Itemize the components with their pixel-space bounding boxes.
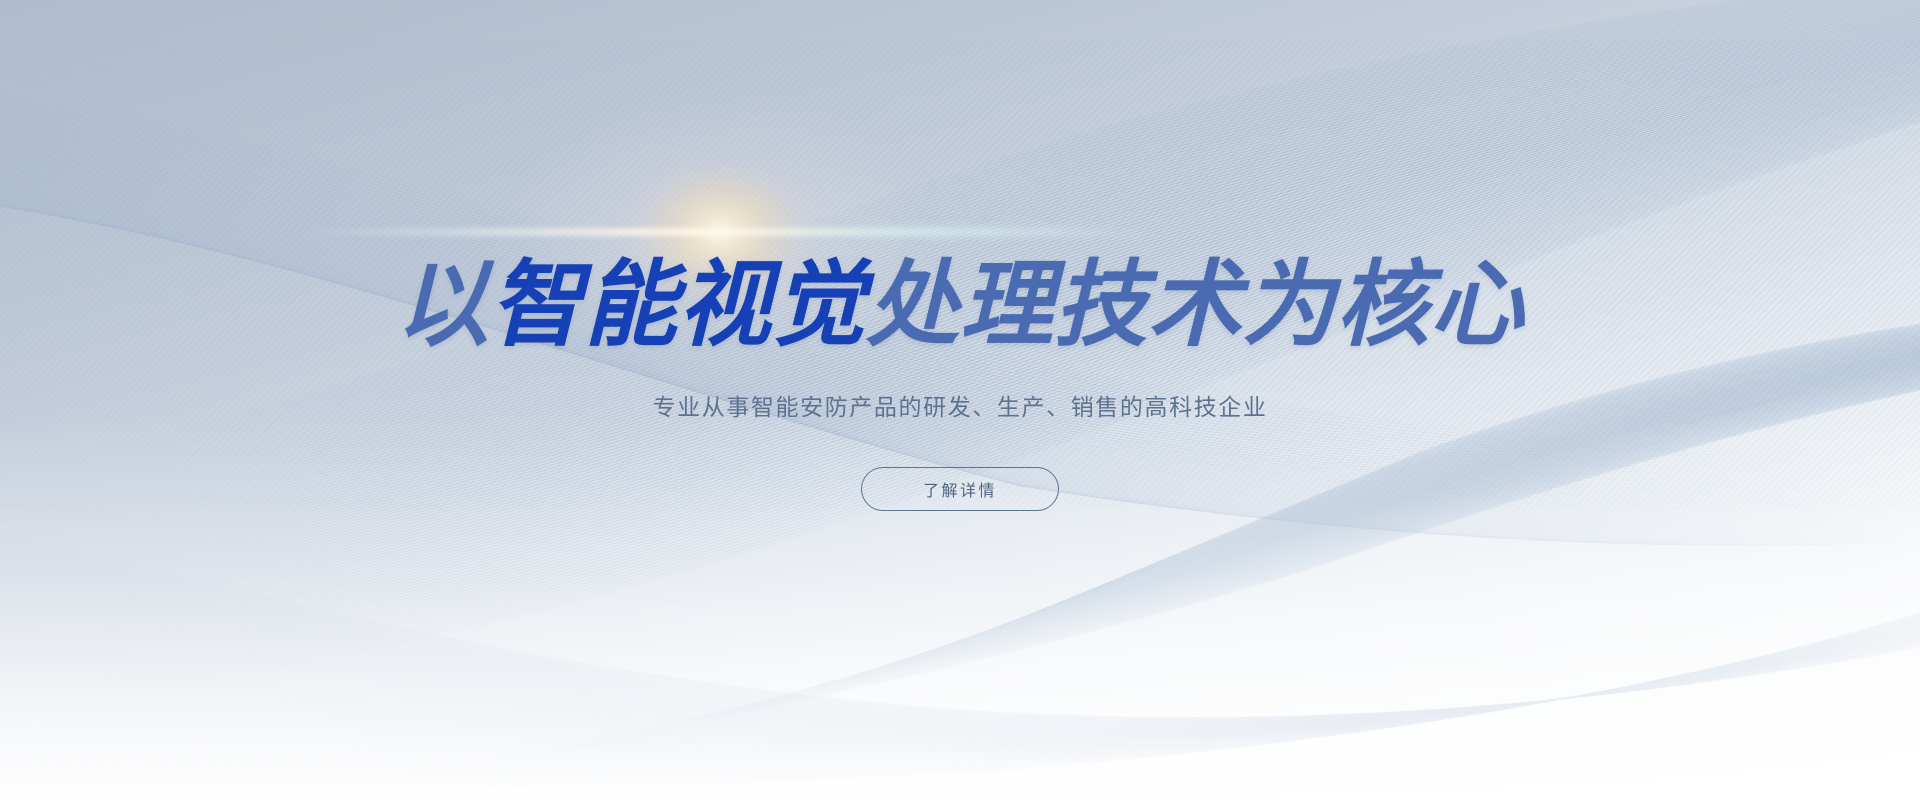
hero-banner: 以智能视觉处理技术为核心 专业从事智能安防产品的研发、生产、销售的高科技企业 了… [0,0,1920,800]
headline-segment-1: 以 [396,252,490,357]
cta-container: 了解详情 [861,467,1059,511]
hero-content: 以智能视觉处理技术为核心 专业从事智能安防产品的研发、生产、销售的高科技企业 了… [0,0,1920,800]
headline-segment-3: 处理技术为核心 [866,252,1524,357]
page-subtitle: 专业从事智能安防产品的研发、生产、销售的高科技企业 [653,390,1268,425]
headline-segment-2-accent: 智能视觉 [490,252,866,357]
learn-more-button[interactable]: 了解详情 [861,467,1059,511]
page-title: 以智能视觉处理技术为核心 [396,258,1525,352]
